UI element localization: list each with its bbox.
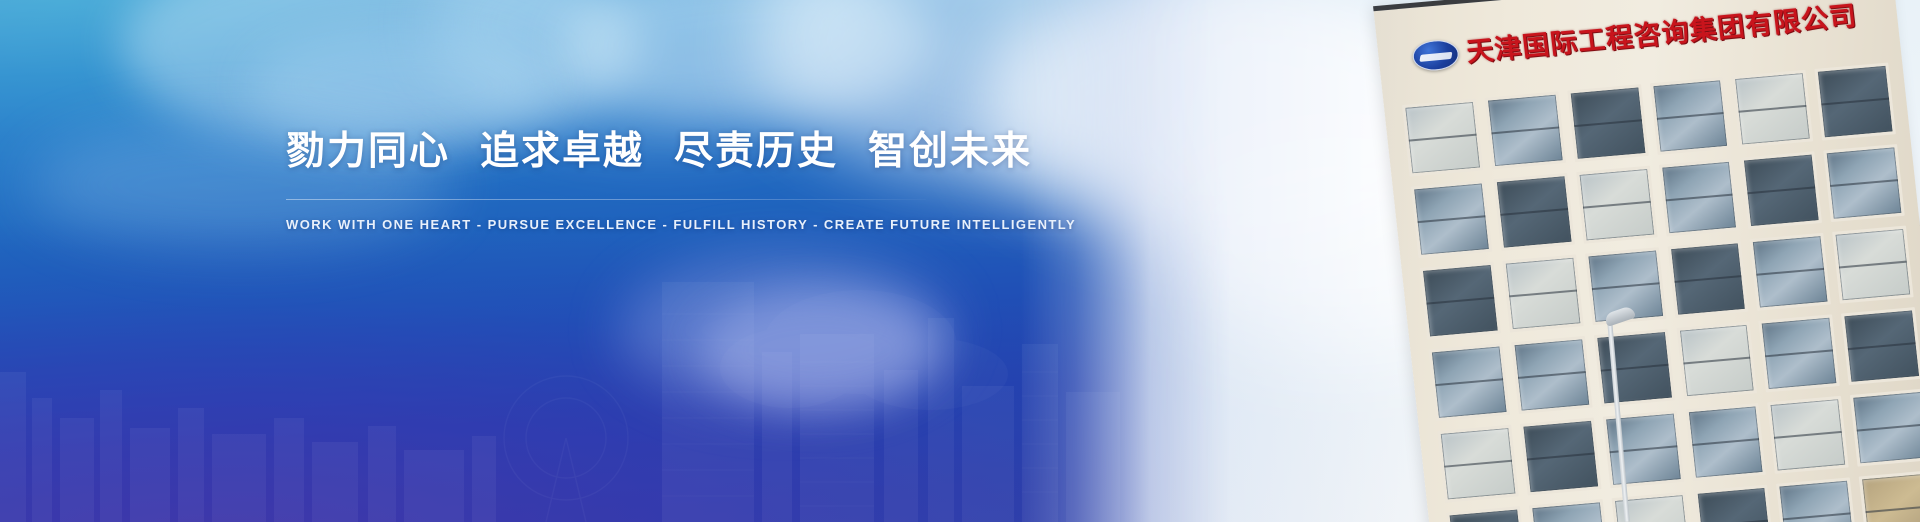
window-grid bbox=[1402, 63, 1920, 522]
headline-segment-3: 尽责历史 bbox=[674, 128, 838, 177]
building-photo: 天津国际工程咨询集团有限公司 bbox=[1020, 0, 1920, 522]
headline-divider-rule bbox=[286, 199, 926, 200]
company-oval-logo-icon bbox=[1411, 38, 1460, 72]
building-sign-text: 天津国际工程咨询集团有限公司 bbox=[1465, 2, 1858, 66]
hero-text-block: 勠力同心追求卓越尽责历史智创未来 WORK WITH ONE HEART - P… bbox=[286, 128, 946, 232]
hero-subheadline: WORK WITH ONE HEART - PURSUE EXCELLENCE … bbox=[286, 217, 946, 232]
headline-segment-2: 追求卓越 bbox=[480, 128, 644, 177]
ghost-cityscape-overlay bbox=[0, 222, 1120, 522]
headline-segment-1: 勠力同心 bbox=[286, 128, 450, 177]
hero-headline: 勠力同心追求卓越尽责历史智创未来 bbox=[286, 128, 946, 177]
office-tower: 天津国际工程咨询集团有限公司 bbox=[1373, 0, 1920, 522]
headline-segment-4: 智创未来 bbox=[868, 128, 1032, 177]
hero-banner: 勠力同心追求卓越尽责历史智创未来 WORK WITH ONE HEART - P… bbox=[0, 0, 1920, 522]
